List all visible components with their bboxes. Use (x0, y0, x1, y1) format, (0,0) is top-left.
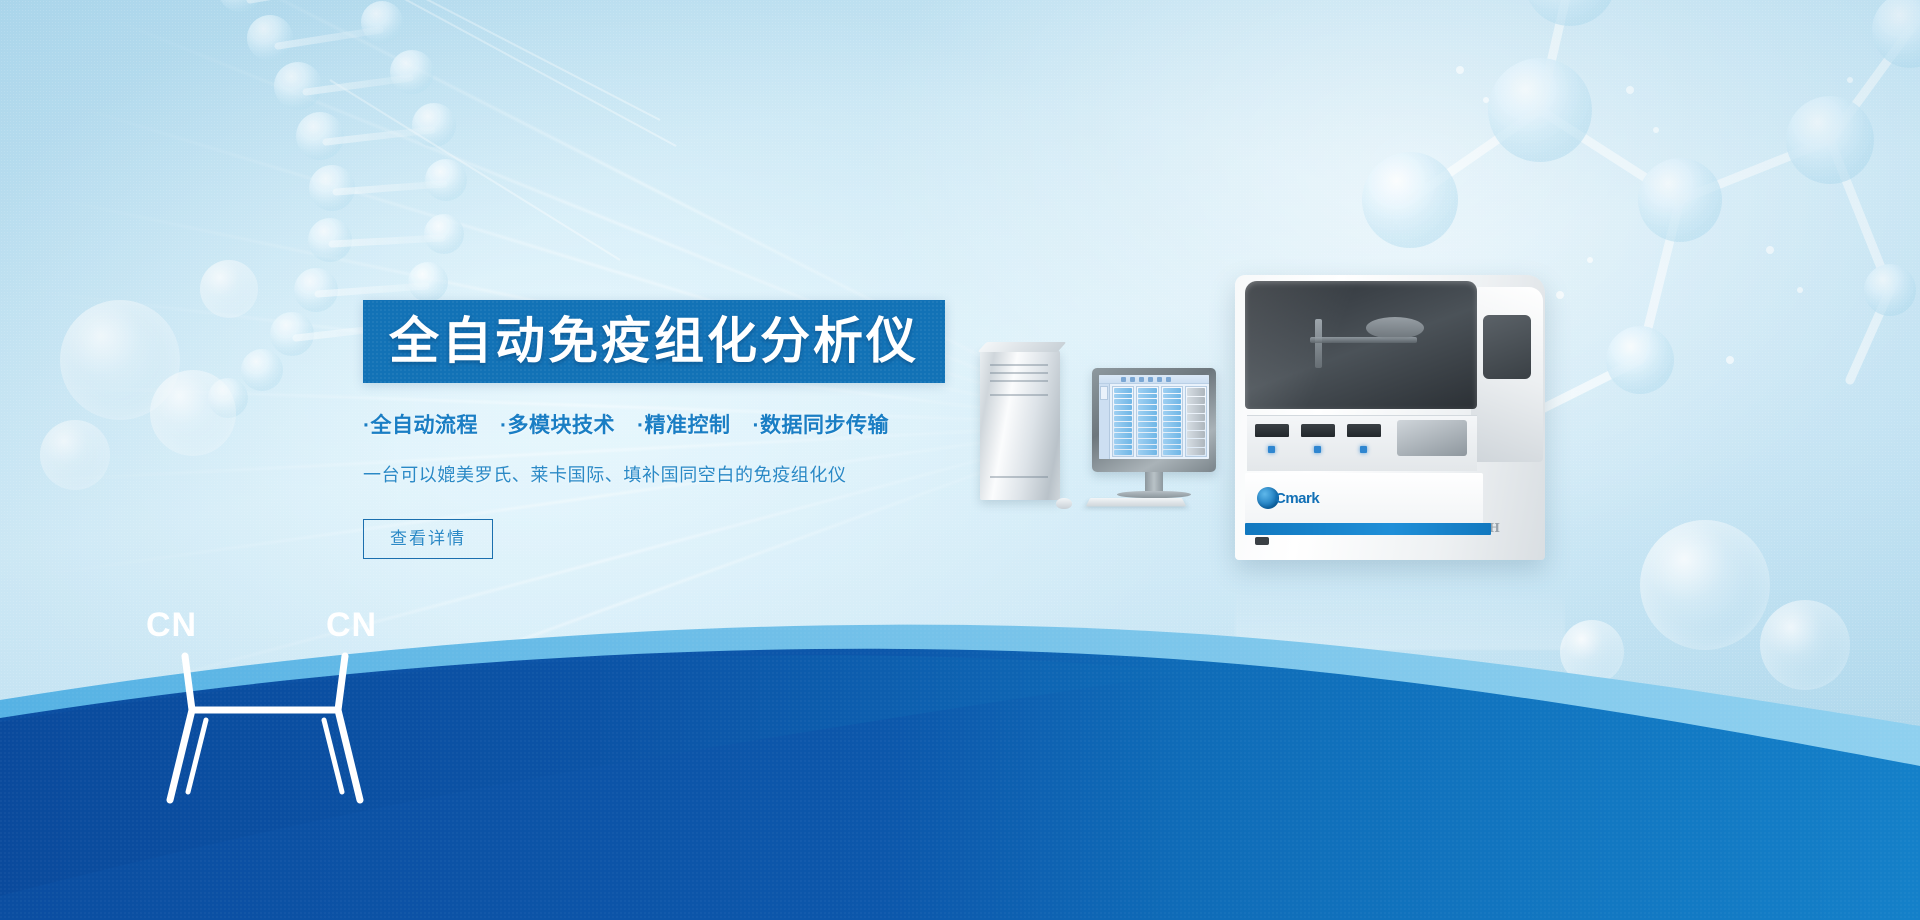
feature-list: ·全自动流程·多模块技术·精准控制·数据同步传输 (363, 409, 1123, 439)
ihc-analyzer-machine: Cmark IHC&ISH (1235, 275, 1545, 560)
analyzer-front-panel (1247, 415, 1477, 471)
brand-logo: Cmark (1257, 487, 1319, 509)
feature-item-1: ·全自动流程 (363, 414, 478, 437)
analyzer-accent-stripe (1245, 523, 1491, 535)
software-slide-racks (1110, 384, 1209, 459)
feature-item-3: ·精准控制 (637, 414, 731, 437)
chem-label-left: CN (146, 606, 197, 645)
chem-label-right: CN (326, 606, 377, 645)
hero-description: 一台可以媲美罗氏、莱卡国际、填补国同空白的免疫组化仪 (363, 461, 1123, 487)
analyzer-glass-hood (1245, 281, 1477, 409)
page-title: 全自动免疫组化分析仪 (389, 314, 919, 367)
reagent-rack (1185, 386, 1207, 457)
hero-banner: Cmark IHC&ISH (0, 0, 1920, 920)
hero-title-banner: 全自动免疫组化分析仪 (363, 300, 945, 383)
chemical-structure-graphic: CN CN (130, 610, 410, 830)
slide-rack (1161, 386, 1183, 457)
brand-logo-text: Cmark (1275, 490, 1319, 507)
view-details-button[interactable]: 查看详情 (363, 519, 493, 559)
hero-copy-block: 全自动免疫组化分析仪 ·全自动流程·多模块技术·精准控制·数据同步传输 一台可以… (363, 300, 1123, 559)
analyzer-side-window (1483, 315, 1531, 379)
feature-item-2: ·多模块技术 (500, 414, 615, 437)
slide-rack (1136, 386, 1158, 457)
feature-item-4: ·数据同步传输 (753, 414, 890, 437)
